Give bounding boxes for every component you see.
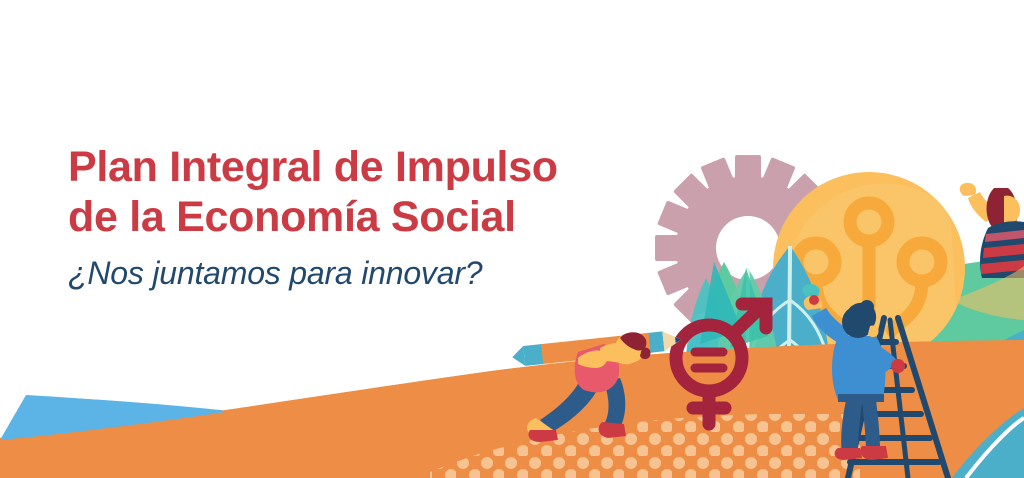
hero-banner: Plan Integral de Impulso de la Economía … xyxy=(0,0,1024,478)
illustration xyxy=(0,0,1024,478)
